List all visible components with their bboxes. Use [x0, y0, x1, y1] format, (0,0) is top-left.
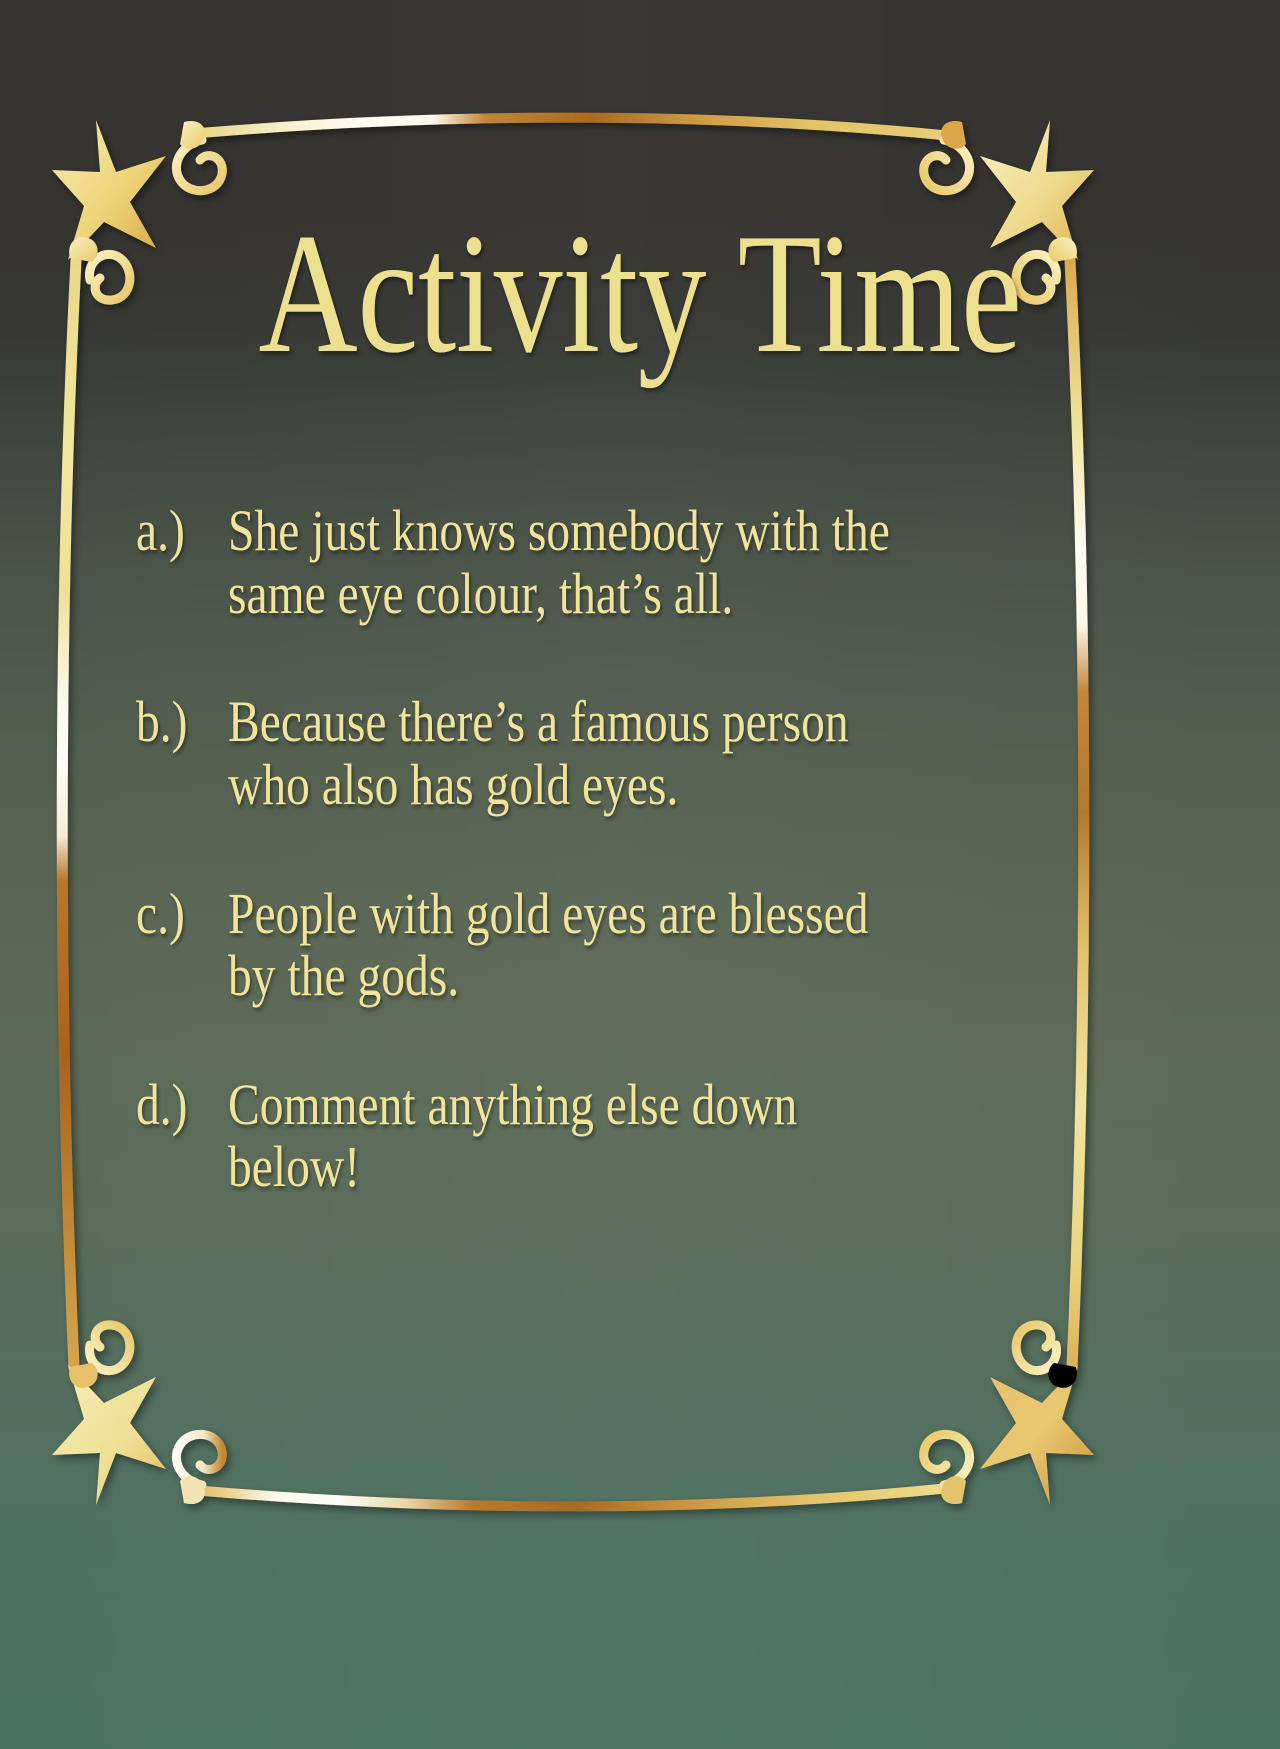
list-item-text: People with gold eyes are blessed by the… [228, 883, 891, 1008]
list-item-text: Because there’s a famous person who also… [228, 691, 891, 816]
list-item: a.) She just knows somebody with the sam… [136, 500, 1036, 625]
list-item: d.) Comment anything else down below! [136, 1074, 1036, 1199]
poster-content: Activity Time a.) She just knows somebod… [0, 0, 1280, 1749]
list-item-marker: b.) [136, 691, 211, 754]
activity-time-poster: Activity Time a.) She just knows somebod… [0, 0, 1280, 1749]
list-item-marker: a.) [136, 500, 211, 563]
list-item: b.) Because there’s a famous person who … [136, 691, 1036, 816]
list-item-marker: c.) [136, 883, 211, 946]
answer-options-list: a.) She just knows somebody with the sam… [136, 500, 1036, 1199]
page-title: Activity Time [128, 208, 1152, 380]
list-item-text: She just knows somebody with the same ey… [228, 500, 891, 625]
list-item-marker: d.) [136, 1074, 211, 1137]
list-item-text: Comment anything else down below! [228, 1074, 891, 1199]
list-item: c.) People with gold eyes are blessed by… [136, 883, 1036, 1008]
